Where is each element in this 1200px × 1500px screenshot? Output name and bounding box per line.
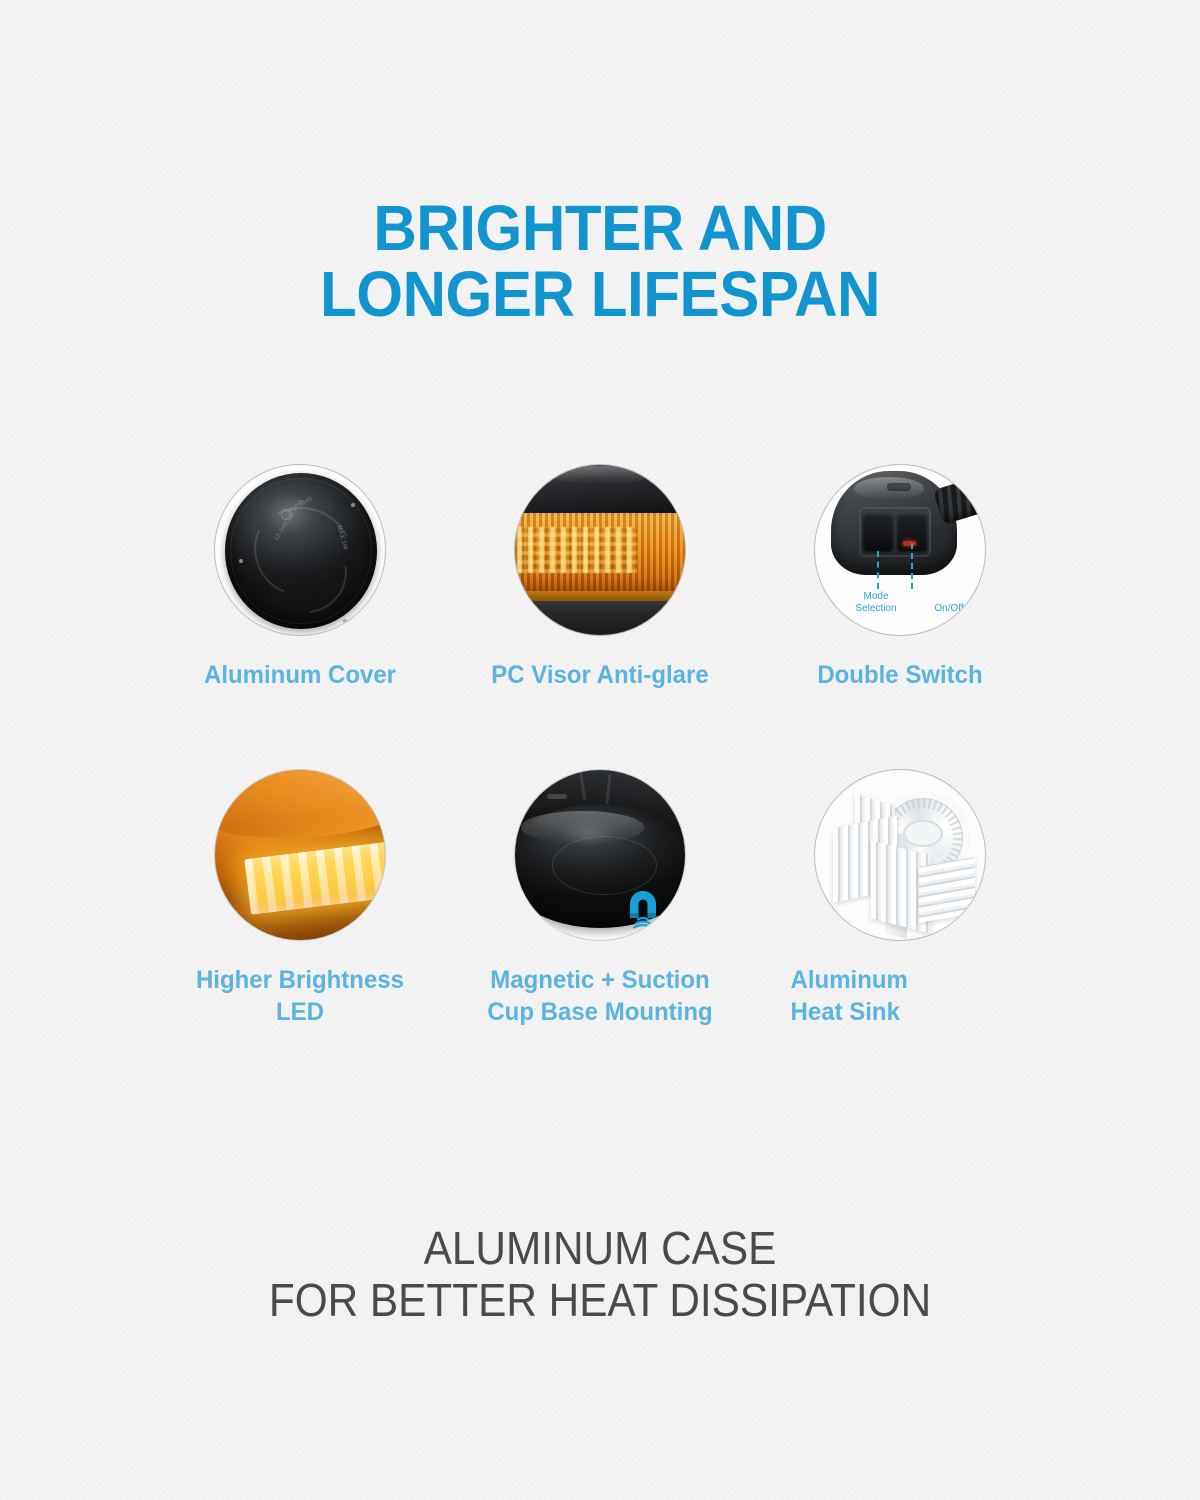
cover-vane-2 bbox=[239, 507, 364, 631]
cover-vane-1 bbox=[235, 493, 366, 624]
onoff-leader-line bbox=[911, 543, 913, 589]
switch-power-cable bbox=[933, 473, 986, 524]
page-title-line2: LONGER LIFESPAN bbox=[36, 262, 1164, 328]
pc-visor-thumb-wrap bbox=[450, 455, 750, 645]
magnet-icon bbox=[623, 888, 663, 930]
cover-screw-1 bbox=[239, 559, 243, 563]
visor-base-housing bbox=[514, 601, 686, 636]
double-switch-photo: Mode Selection On/Off bbox=[814, 464, 986, 636]
caption-aluminum-cover: Aluminum Cover bbox=[156, 659, 444, 691]
higher-brightness-led-photo bbox=[214, 769, 386, 941]
cover-certification-mark-icon bbox=[281, 509, 292, 520]
page-title: BRIGHTER AND LONGER LIFESPAN bbox=[36, 196, 1164, 328]
caption-pc-visor: PC Visor Anti-glare bbox=[456, 659, 744, 691]
aluminum-heat-sink-photo bbox=[814, 769, 986, 941]
heatsink-fin-block-3 bbox=[919, 857, 975, 923]
cover-screw-3 bbox=[351, 503, 355, 507]
base-gloss-highlight bbox=[521, 811, 644, 843]
feature-card-double-switch: Mode Selection On/Off Double Switch bbox=[750, 455, 1050, 691]
feature-row-2: Higher Brightness LED bbox=[150, 760, 1050, 1065]
base-rib-2 bbox=[605, 774, 611, 804]
caption-msb-line2: Cup Base Mounting bbox=[456, 996, 744, 1028]
feature-card-pc-visor: PC Visor Anti-glare bbox=[450, 455, 750, 691]
cover-etch-voltage: 12-24V DC 1.8A bbox=[274, 498, 304, 542]
marketing-infographic-page: BRIGHTER AND LONGER LIFESPAN 12-24V DC 1… bbox=[0, 0, 1200, 1500]
cover-etch-power: MAX 1W bbox=[335, 525, 348, 551]
cover-vane-3 bbox=[240, 485, 367, 611]
aluminum-cover-photo: 12-24V DC 1.8A SAE J845 MAX 1W bbox=[214, 464, 386, 636]
caption-ahs-line2: Heat Sink bbox=[791, 996, 1044, 1028]
caption-aluminum-heat-sink: Aluminum Heat Sink bbox=[756, 964, 1044, 1028]
base-rib-1 bbox=[579, 770, 586, 800]
feature-card-magnetic-suction-base: Magnetic + Suction Cup Base Mounting bbox=[450, 760, 750, 1028]
caption-double-switch: Double Switch bbox=[756, 659, 1044, 691]
caption-hbled-line2: LED bbox=[156, 996, 444, 1028]
callout-mode-selection: Mode Selection bbox=[833, 591, 919, 614]
caption-msb-line1: Magnetic + Suction bbox=[456, 964, 744, 996]
cover-lid-shape: 12-24V DC 1.8A SAE J845 MAX 1W bbox=[225, 473, 377, 629]
caption-magnetic-suction-base: Magnetic + Suction Cup Base Mounting bbox=[456, 964, 744, 1028]
cover-etch-standard: SAE J845 bbox=[285, 496, 313, 516]
mode-selection-leader-line bbox=[877, 551, 879, 589]
base-vent-slot bbox=[547, 794, 567, 799]
aluminum-heat-sink-thumb-wrap bbox=[750, 760, 1050, 950]
footer-line2: FOR BETTER HEAT DISSIPATION bbox=[48, 1274, 1152, 1326]
callout-mode-line2: Selection bbox=[833, 603, 919, 615]
caption-hbled-line1: Higher Brightness bbox=[156, 964, 444, 996]
higher-brightness-led-thumb-wrap bbox=[150, 760, 450, 950]
page-title-line1: BRIGHTER AND bbox=[373, 192, 826, 264]
footer-tagline: ALUMINUM CASE FOR BETTER HEAT DISSIPATIO… bbox=[48, 1222, 1152, 1327]
pc-visor-photo bbox=[514, 464, 686, 636]
visor-led-array bbox=[517, 527, 637, 573]
magnetic-suction-base-photo bbox=[514, 769, 686, 941]
feature-grid: 12-24V DC 1.8A SAE J845 MAX 1W Aluminum … bbox=[150, 455, 1050, 1065]
feature-card-aluminum-cover: 12-24V DC 1.8A SAE J845 MAX 1W Aluminum … bbox=[150, 455, 450, 691]
callout-onoff: On/Off bbox=[923, 603, 975, 615]
caption-higher-brightness-led: Higher Brightness LED bbox=[156, 964, 444, 1028]
mode-selection-rocker[interactable] bbox=[863, 513, 893, 551]
callout-mode-line1: Mode bbox=[833, 591, 919, 603]
onoff-indicator-led bbox=[903, 541, 916, 546]
magnetic-suction-base-thumb-wrap bbox=[450, 760, 750, 950]
switch-vent-slot bbox=[887, 483, 911, 491]
cover-screw-2 bbox=[343, 619, 347, 623]
feature-card-aluminum-heat-sink: Aluminum Heat Sink bbox=[750, 760, 1050, 1028]
footer-line1: ALUMINUM CASE bbox=[48, 1222, 1152, 1274]
double-switch-thumb-wrap: Mode Selection On/Off bbox=[750, 455, 1050, 645]
feature-card-higher-brightness-led: Higher Brightness LED bbox=[150, 760, 450, 1028]
led-beacon-top bbox=[214, 769, 386, 838]
feature-row-1: 12-24V DC 1.8A SAE J845 MAX 1W Aluminum … bbox=[150, 455, 1050, 760]
caption-ahs-line1: Aluminum bbox=[791, 964, 1044, 996]
aluminum-cover-thumb-wrap: 12-24V DC 1.8A SAE J845 MAX 1W bbox=[150, 455, 450, 645]
